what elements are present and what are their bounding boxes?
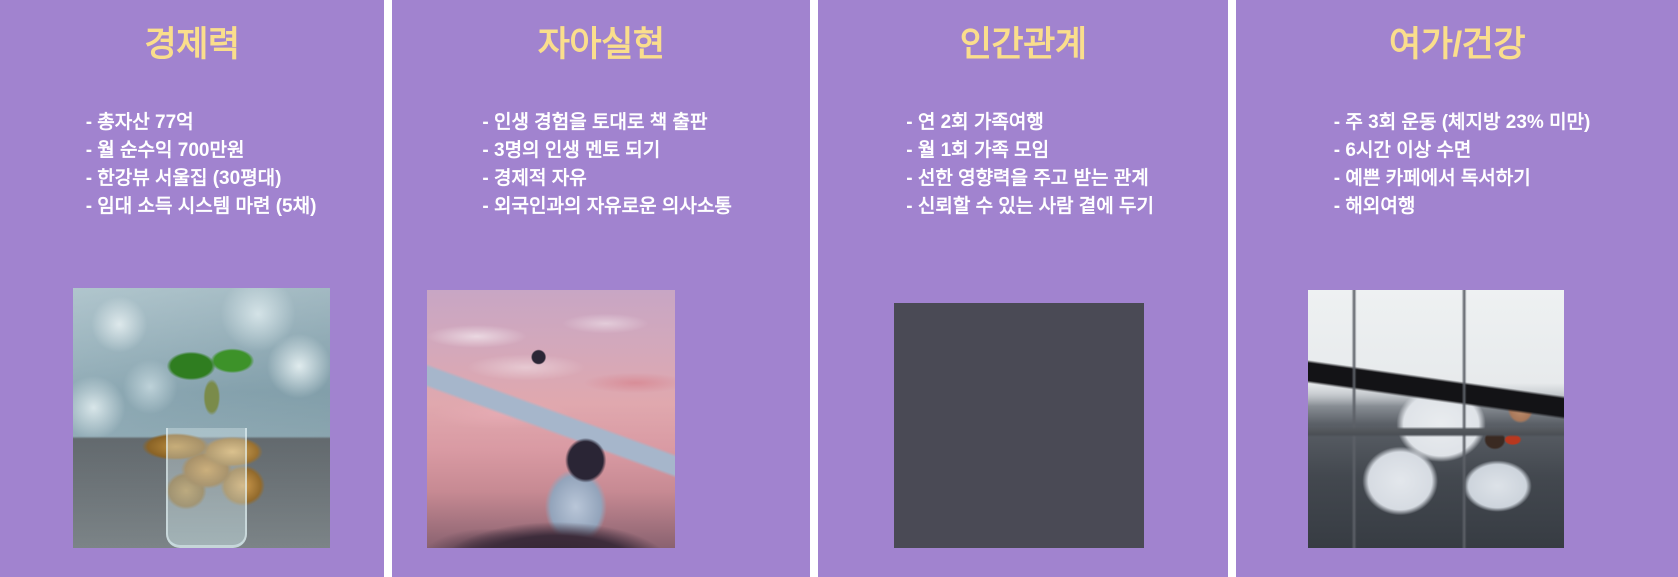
goal-column-economic-power: 경제력 - 총자산 77억 - 월 순수익 700만원 - 한강뷰 서울집 (3… bbox=[0, 0, 384, 577]
goal-item: - 3명의 인생 멘토 되기 bbox=[482, 137, 731, 165]
goal-item: - 인생 경험을 토대로 책 출판 bbox=[482, 109, 731, 137]
goal-item: - 임대 소득 시스템 마련 (5채) bbox=[86, 193, 317, 221]
goal-item: - 경제적 자유 bbox=[482, 165, 731, 193]
goal-item: - 해외여행 bbox=[1334, 193, 1591, 221]
jiu-jitsu-grappling-photo bbox=[1308, 290, 1564, 548]
goal-item: - 6시간 이상 수면 bbox=[1334, 137, 1591, 165]
life-goals-board: 경제력 - 총자산 77억 - 월 순수익 700만원 - 한강뷰 서울집 (3… bbox=[0, 0, 1678, 577]
column-title-self-actualization: 자아실현 bbox=[538, 27, 665, 62]
goal-list-self-actualization: - 인생 경험을 토대로 책 출판 - 3명의 인생 멘토 되기 - 경제적 자… bbox=[470, 109, 731, 221]
goal-list-economic-power: - 총자산 77억 - 월 순수익 700만원 - 한강뷰 서울집 (30평대)… bbox=[68, 109, 317, 221]
column-title-human-relationships: 인간관계 bbox=[960, 27, 1087, 62]
goal-item: - 선한 영향력을 주고 받는 관계 bbox=[906, 165, 1154, 193]
goal-item: - 신뢰할 수 있는 사람 곁에 두기 bbox=[906, 193, 1154, 221]
person-raising-fist-above-clouds-photo bbox=[427, 290, 675, 548]
goal-item: - 연 2회 가족여행 bbox=[906, 109, 1154, 137]
goal-column-leisure-health: 여가/건강 - 주 3회 운동 (체지방 23% 미만) - 6시간 이상 수면… bbox=[1236, 0, 1678, 577]
goal-item: - 월 1회 가족 모임 bbox=[906, 137, 1154, 165]
goal-item: - 주 3회 운동 (체지방 23% 미만) bbox=[1334, 109, 1591, 137]
goal-list-leisure-health: - 주 3회 운동 (체지방 23% 미만) - 6시간 이상 수면 - 예쁜 … bbox=[1324, 109, 1591, 221]
people-holding-hands-at-beach-sunset-photo bbox=[894, 303, 1144, 548]
goal-column-human-relationships: 인간관계 - 연 2회 가족여행 - 월 1회 가족 모임 - 선한 영향력을 … bbox=[818, 0, 1228, 577]
goal-item: - 월 순수익 700만원 bbox=[86, 137, 317, 165]
plant-growing-in-glass-of-coins-photo bbox=[73, 288, 330, 548]
goal-item: - 외국인과의 자유로운 의사소통 bbox=[482, 193, 731, 221]
goal-list-human-relationships: - 연 2회 가족여행 - 월 1회 가족 모임 - 선한 영향력을 주고 받는… bbox=[892, 109, 1154, 221]
goal-item: - 총자산 77억 bbox=[86, 109, 317, 137]
goal-item: - 예쁜 카페에서 독서하기 bbox=[1334, 165, 1591, 193]
goal-column-self-actualization: 자아실현 - 인생 경험을 토대로 책 출판 - 3명의 인생 멘토 되기 - … bbox=[392, 0, 810, 577]
column-title-economic-power: 경제력 bbox=[145, 27, 240, 62]
goal-item: - 한강뷰 서울집 (30평대) bbox=[86, 165, 317, 193]
column-title-leisure-health: 여가/건강 bbox=[1389, 27, 1525, 62]
